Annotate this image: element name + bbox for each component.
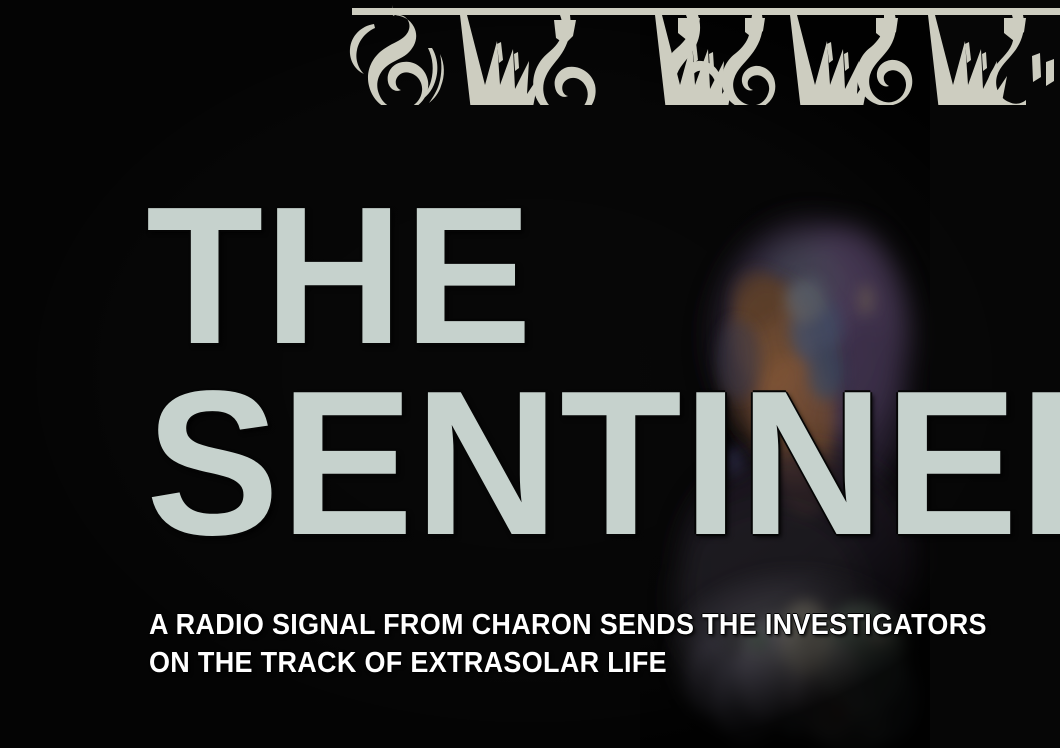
subtitle-line-2: ON THE TRACK OF EXTRASOLAR LIFE bbox=[149, 644, 884, 682]
title-line-the: THE bbox=[146, 196, 930, 357]
title-line-sentinels: SENTINELS bbox=[146, 379, 922, 548]
poster-title: THE SENTINELS bbox=[146, 196, 946, 548]
ornamental-border-top bbox=[0, 0, 1060, 105]
poster-root: THE SENTINELS A RADIO SIGNAL FROM CHARON… bbox=[0, 0, 1060, 748]
subtitle-line-1: A RADIO SIGNAL FROM CHARON SENDS THE INV… bbox=[149, 606, 884, 644]
poster-subtitle: A RADIO SIGNAL FROM CHARON SENDS THE INV… bbox=[149, 606, 939, 683]
